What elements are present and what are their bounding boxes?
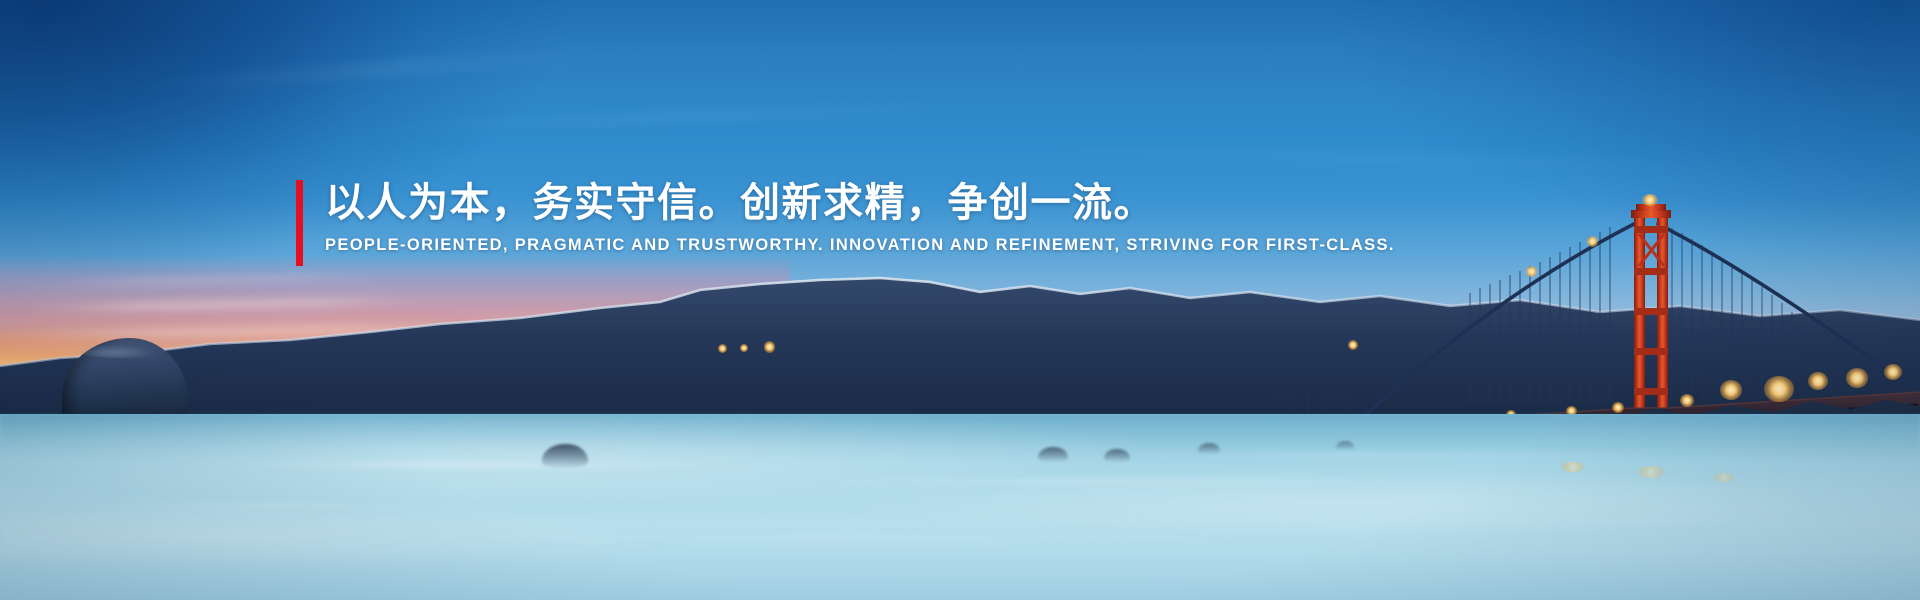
ridge-light: [764, 341, 775, 353]
water-streak: [1080, 452, 1700, 458]
water-streak: [780, 479, 1460, 484]
water-rock: [1336, 441, 1354, 450]
cable-light: [1587, 236, 1598, 247]
water-rock: [1104, 449, 1130, 462]
light-reflection: [1712, 473, 1736, 482]
hero-banner: 以人为本，务实守信。创新求精，争创一流。 PEOPLE-ORIENTED, PR…: [0, 0, 1920, 600]
light-reflection: [1560, 462, 1586, 472]
banner-headline: 以人为本，务实守信。创新求精，争创一流。: [325, 180, 1395, 227]
suspension-cable-main: [1356, 224, 1634, 424]
deck-light: [1720, 380, 1742, 400]
deck-light: [1808, 372, 1828, 390]
banner-text-column: 以人为本，务实守信。创新求精，争创一流。 PEOPLE-ORIENTED, PR…: [303, 180, 1395, 266]
red-accent-bar: [296, 180, 303, 266]
suspension-cable-right: [1658, 224, 1920, 394]
water-rock: [1038, 447, 1068, 462]
banner-subtitle: PEOPLE-ORIENTED, PRAGMATIC AND TRUSTWORT…: [325, 236, 1395, 255]
deck-light: [1846, 368, 1868, 388]
deck-light: [1612, 402, 1624, 413]
deck-light: [1764, 376, 1794, 402]
cable-light: [1348, 340, 1358, 350]
foreground-rock-left: [62, 338, 188, 422]
light-reflection: [1636, 466, 1666, 478]
deck-light: [1884, 364, 1902, 380]
banner-text-block: 以人为本，务实守信。创新求精，争创一流。 PEOPLE-ORIENTED, PR…: [296, 180, 1395, 266]
water-streak: [420, 535, 1320, 542]
bridge-tower-main: [1631, 204, 1671, 414]
water-streak: [200, 462, 760, 468]
ridge-light: [740, 344, 748, 352]
water-rock: [1198, 443, 1220, 454]
water-rock: [542, 444, 588, 468]
deck-light: [1680, 394, 1694, 407]
cable-light: [1526, 266, 1537, 277]
water-streak: [60, 503, 540, 508]
tower-beacon-light: [1642, 194, 1658, 206]
ridge-light: [718, 344, 727, 353]
